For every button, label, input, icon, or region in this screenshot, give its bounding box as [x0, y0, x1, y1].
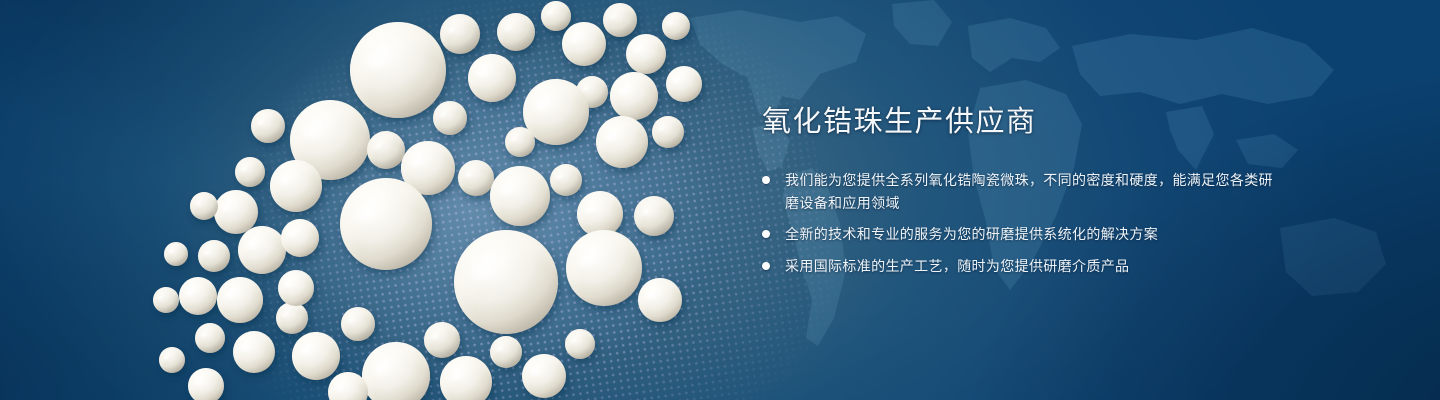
feature-list-item: 采用国际标准的生产工艺，随时为您提供研磨介质产品 [762, 255, 1282, 278]
feature-text: 我们能为您提供全系列氧化锆陶瓷微珠，不同的密度和硬度，能满足您各类研磨设备和应用… [785, 172, 1273, 211]
bullet-dot-icon [762, 230, 770, 238]
hero-banner: 氧化锆珠生产供应商 我们能为您提供全系列氧化锆陶瓷微珠，不同的密度和硬度，能满足… [0, 0, 1440, 400]
feature-list: 我们能为您提供全系列氧化锆陶瓷微珠，不同的密度和硬度，能满足您各类研磨设备和应用… [762, 169, 1282, 278]
bullet-dot-icon [762, 176, 770, 184]
feature-list-item: 我们能为您提供全系列氧化锆陶瓷微珠，不同的密度和硬度，能满足您各类研磨设备和应用… [762, 169, 1282, 214]
banner-copy: 氧化锆珠生产供应商 我们能为您提供全系列氧化锆陶瓷微珠，不同的密度和硬度，能满足… [762, 104, 1282, 278]
feature-text: 采用国际标准的生产工艺，随时为您提供研磨介质产品 [785, 258, 1129, 274]
feature-text: 全新的技术和专业的服务为您的研磨提供系统化的解决方案 [785, 226, 1158, 242]
feature-list-item: 全新的技术和专业的服务为您的研磨提供系统化的解决方案 [762, 223, 1282, 246]
bullet-dot-icon [762, 262, 770, 270]
banner-headline: 氧化锆珠生产供应商 [762, 104, 1282, 141]
